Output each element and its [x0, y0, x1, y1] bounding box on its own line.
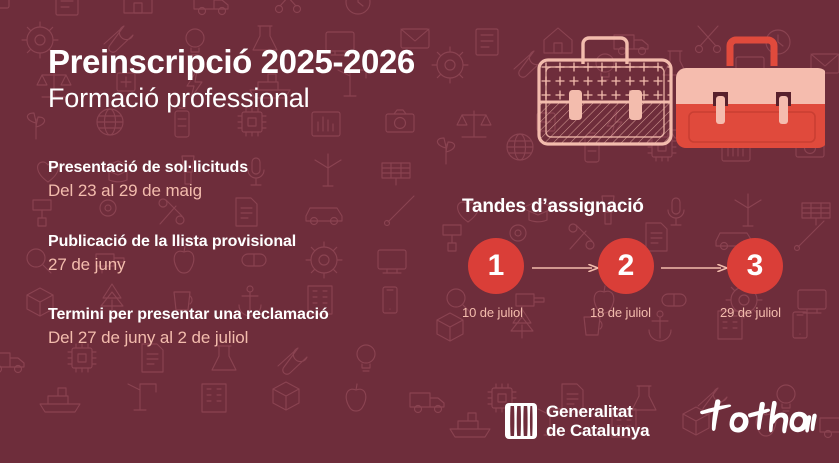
milestone-item: Publicació de la llista provisional 27 d… [48, 231, 468, 277]
round-badge-3: 3 [727, 238, 783, 294]
rounds-title: Tandes d’assignació [462, 196, 822, 218]
briefcase-solid-icon [676, 40, 825, 148]
rounds-track: 1 2 3 [462, 238, 822, 296]
briefcase-illustration-group [525, 18, 825, 168]
milestone-date: Del 27 de juny al 2 de juliol [48, 327, 468, 350]
senyera-shield-icon [505, 403, 537, 439]
generalitat-wordmark: Generalitat de Catalunya [546, 402, 649, 440]
generalitat-de-catalunya-logo: Generalitat de Catalunya [505, 402, 649, 440]
round-date-1: 10 de juliol [462, 305, 523, 320]
briefcase-outline-icon [539, 38, 671, 146]
milestone-date: 27 de juny [48, 254, 468, 277]
milestone-item: Termini per presentar una reclamació Del… [48, 304, 468, 350]
milestone-date: Del 23 al 29 de maig [48, 180, 468, 203]
rounds-date-row: 10 de juliol 18 de juliol 29 de juliol [462, 305, 822, 323]
footer-logo-group: Generalitat de Catalunya [505, 397, 819, 445]
tothom-wordmark-icon [691, 397, 819, 445]
round-badge-1: 1 [468, 238, 524, 294]
arrow-right-icon [530, 264, 602, 272]
page-title: Preinscripció 2025-2026 [48, 44, 468, 80]
arrow-right-icon [659, 264, 731, 272]
round-date-3: 29 de juliol [720, 305, 781, 320]
assignment-rounds-section: Tandes d’assignació 1 2 3 10 de juliol 1… [462, 196, 822, 323]
poster-canvas: Preinscripció 2025-2026 Formació profess… [0, 0, 839, 463]
milestone-title: Publicació de la llista provisional [48, 231, 468, 253]
left-content-column: Preinscripció 2025-2026 Formació profess… [48, 44, 468, 350]
round-badge-2: 2 [598, 238, 654, 294]
page-subtitle: Formació professional [48, 82, 468, 116]
milestone-title: Presentació de sol·licituds [48, 157, 468, 179]
milestone-list: Presentació de sol·licituds Del 23 al 29… [48, 157, 468, 350]
milestone-title: Termini per presentar una reclamació [48, 304, 468, 326]
tothom-logo [691, 397, 819, 445]
milestone-item: Presentació de sol·licituds Del 23 al 29… [48, 157, 468, 203]
round-date-2: 18 de juliol [590, 305, 651, 320]
